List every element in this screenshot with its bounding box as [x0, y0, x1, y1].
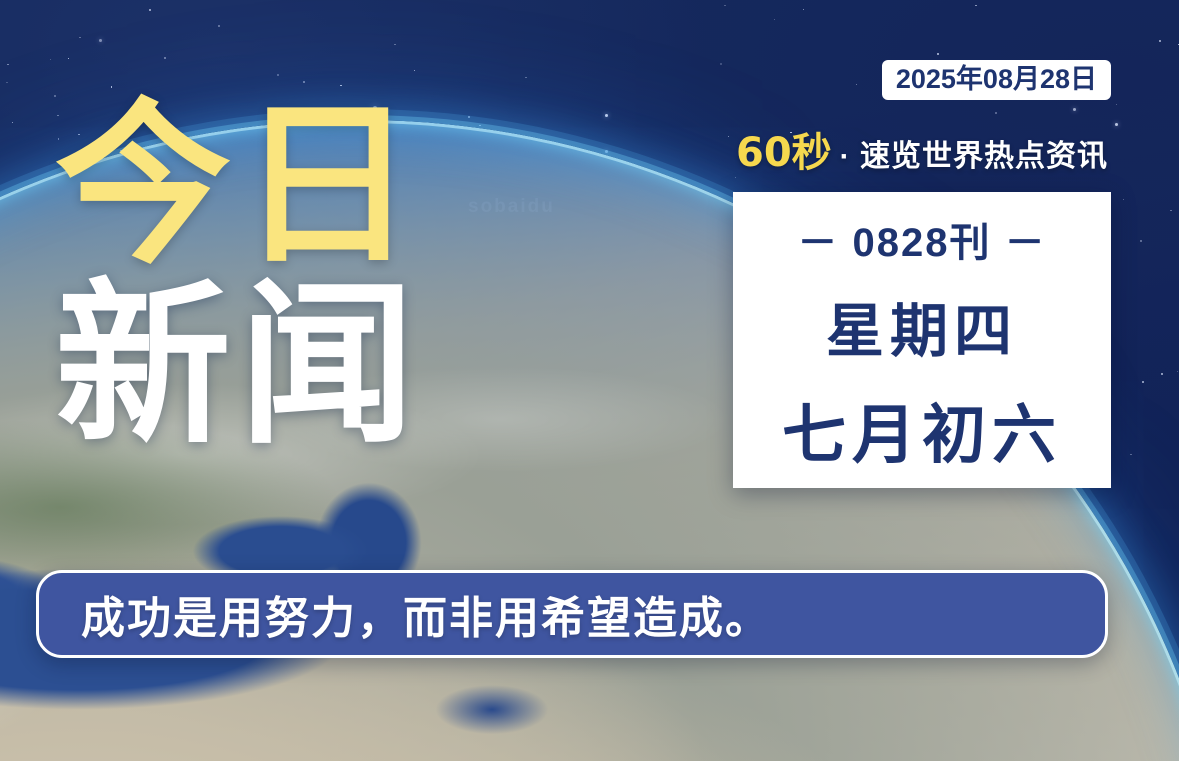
right-info-panel: 2025年08月28日 60秒 · 速览世界热点资讯 － 0828刊 － 星期四… — [733, 60, 1111, 488]
brand-title-line2: 新闻 — [55, 276, 423, 456]
weekday-label: 星期四 — [826, 284, 1018, 368]
tagline: 60秒 · 速览世界热点资讯 — [733, 120, 1111, 178]
info-card: － 0828刊 － 星期四 七月初六 — [733, 192, 1111, 488]
brand-title: 今日 新闻 — [55, 96, 423, 455]
date-badge: 2025年08月28日 — [882, 60, 1111, 100]
tagline-rest: · 速览世界热点资讯 — [840, 131, 1108, 175]
brand-title-line1: 今日 — [55, 96, 423, 276]
issue-number: － 0828刊 － — [797, 210, 1046, 268]
tagline-highlight: 60秒 — [736, 120, 832, 178]
news-poster: sobaidu 今日 新闻 2025年08月28日 60秒 · 速览世界热点资讯… — [0, 0, 1179, 761]
watermark-text: sobaidu — [468, 196, 555, 218]
quote-text: 成功是用努力，而非用希望造成。 — [81, 582, 771, 646]
quote-bar: 成功是用努力，而非用希望造成。 — [36, 570, 1108, 658]
lunar-date: 七月初六 — [782, 384, 1062, 476]
date-badge-row: 2025年08月28日 — [733, 60, 1111, 100]
